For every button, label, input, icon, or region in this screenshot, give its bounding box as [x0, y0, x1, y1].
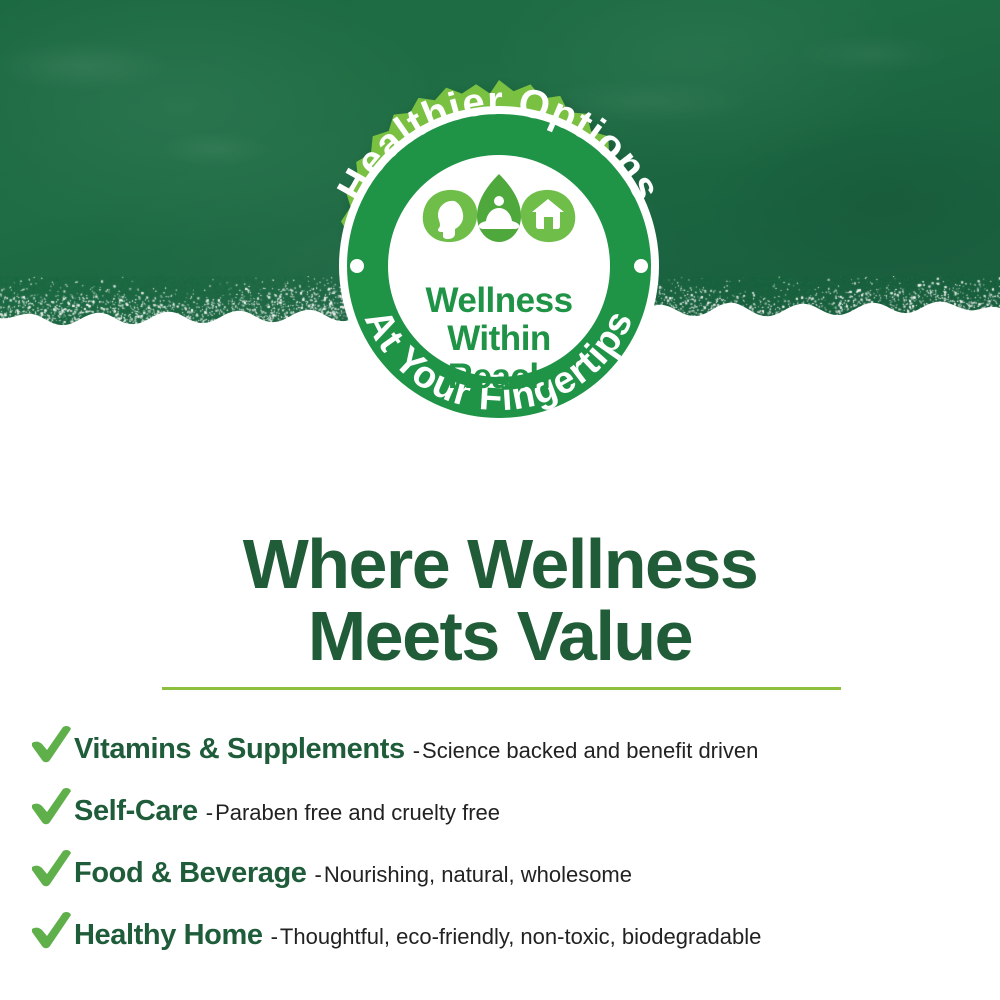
badge-center-text: Wellness Within Reach: [303, 282, 695, 396]
headline-line-2: Meets Value: [0, 600, 1000, 672]
list-item-description: Thoughtful, eco-friendly, non-toxic, bio…: [280, 924, 761, 950]
list-item-description: Science backed and benefit driven: [422, 738, 758, 764]
badge-center-line-3: Reach: [303, 358, 695, 396]
badge-center-line-1: Wellness: [303, 282, 695, 320]
list-item-dash: -: [198, 800, 215, 826]
check-icon: [28, 848, 74, 888]
list-item-title: Healthy Home: [74, 919, 263, 952]
headline-divider: [162, 687, 841, 690]
list-item-title: Food & Beverage: [74, 857, 307, 890]
list-item-dash: -: [307, 862, 324, 888]
badge-center-line-2: Within: [303, 320, 695, 358]
house-leaf-icon: [521, 190, 576, 242]
list-item-description: Nourishing, natural, wholesome: [324, 862, 632, 888]
list-item: Vitamins & Supplements - Science backed …: [28, 718, 988, 780]
list-item-dash: -: [263, 924, 280, 950]
check-icon: [28, 910, 74, 950]
list-item: Self-Care - Paraben free and cruelty fre…: [28, 780, 988, 842]
list-item: Food & Beverage - Nourishing, natural, w…: [28, 842, 988, 904]
list-item-description: Paraben free and cruelty free: [215, 800, 500, 826]
page-title: Where Wellness Meets Value: [0, 528, 1000, 672]
check-icon: [28, 786, 74, 826]
check-icon: [28, 724, 74, 764]
wellness-within-reach-badge: Healthier Options At Your Fingertips: [303, 70, 695, 444]
headline-line-1: Where Wellness: [0, 528, 1000, 600]
list-item-title: Vitamins & Supplements: [74, 733, 405, 766]
promo-poster: Healthier Options At Your Fingertips: [0, 0, 1000, 1000]
head-profile-leaf-icon: [423, 190, 478, 242]
badge-dot-right-icon: [634, 259, 648, 273]
badge-dot-left-icon: [350, 259, 364, 273]
list-item-title: Self-Care: [74, 795, 198, 828]
benefits-list: Vitamins & Supplements - Science backed …: [28, 718, 988, 966]
list-item: Healthy Home - Thoughtful, eco-friendly,…: [28, 904, 988, 966]
list-item-dash: -: [405, 738, 422, 764]
